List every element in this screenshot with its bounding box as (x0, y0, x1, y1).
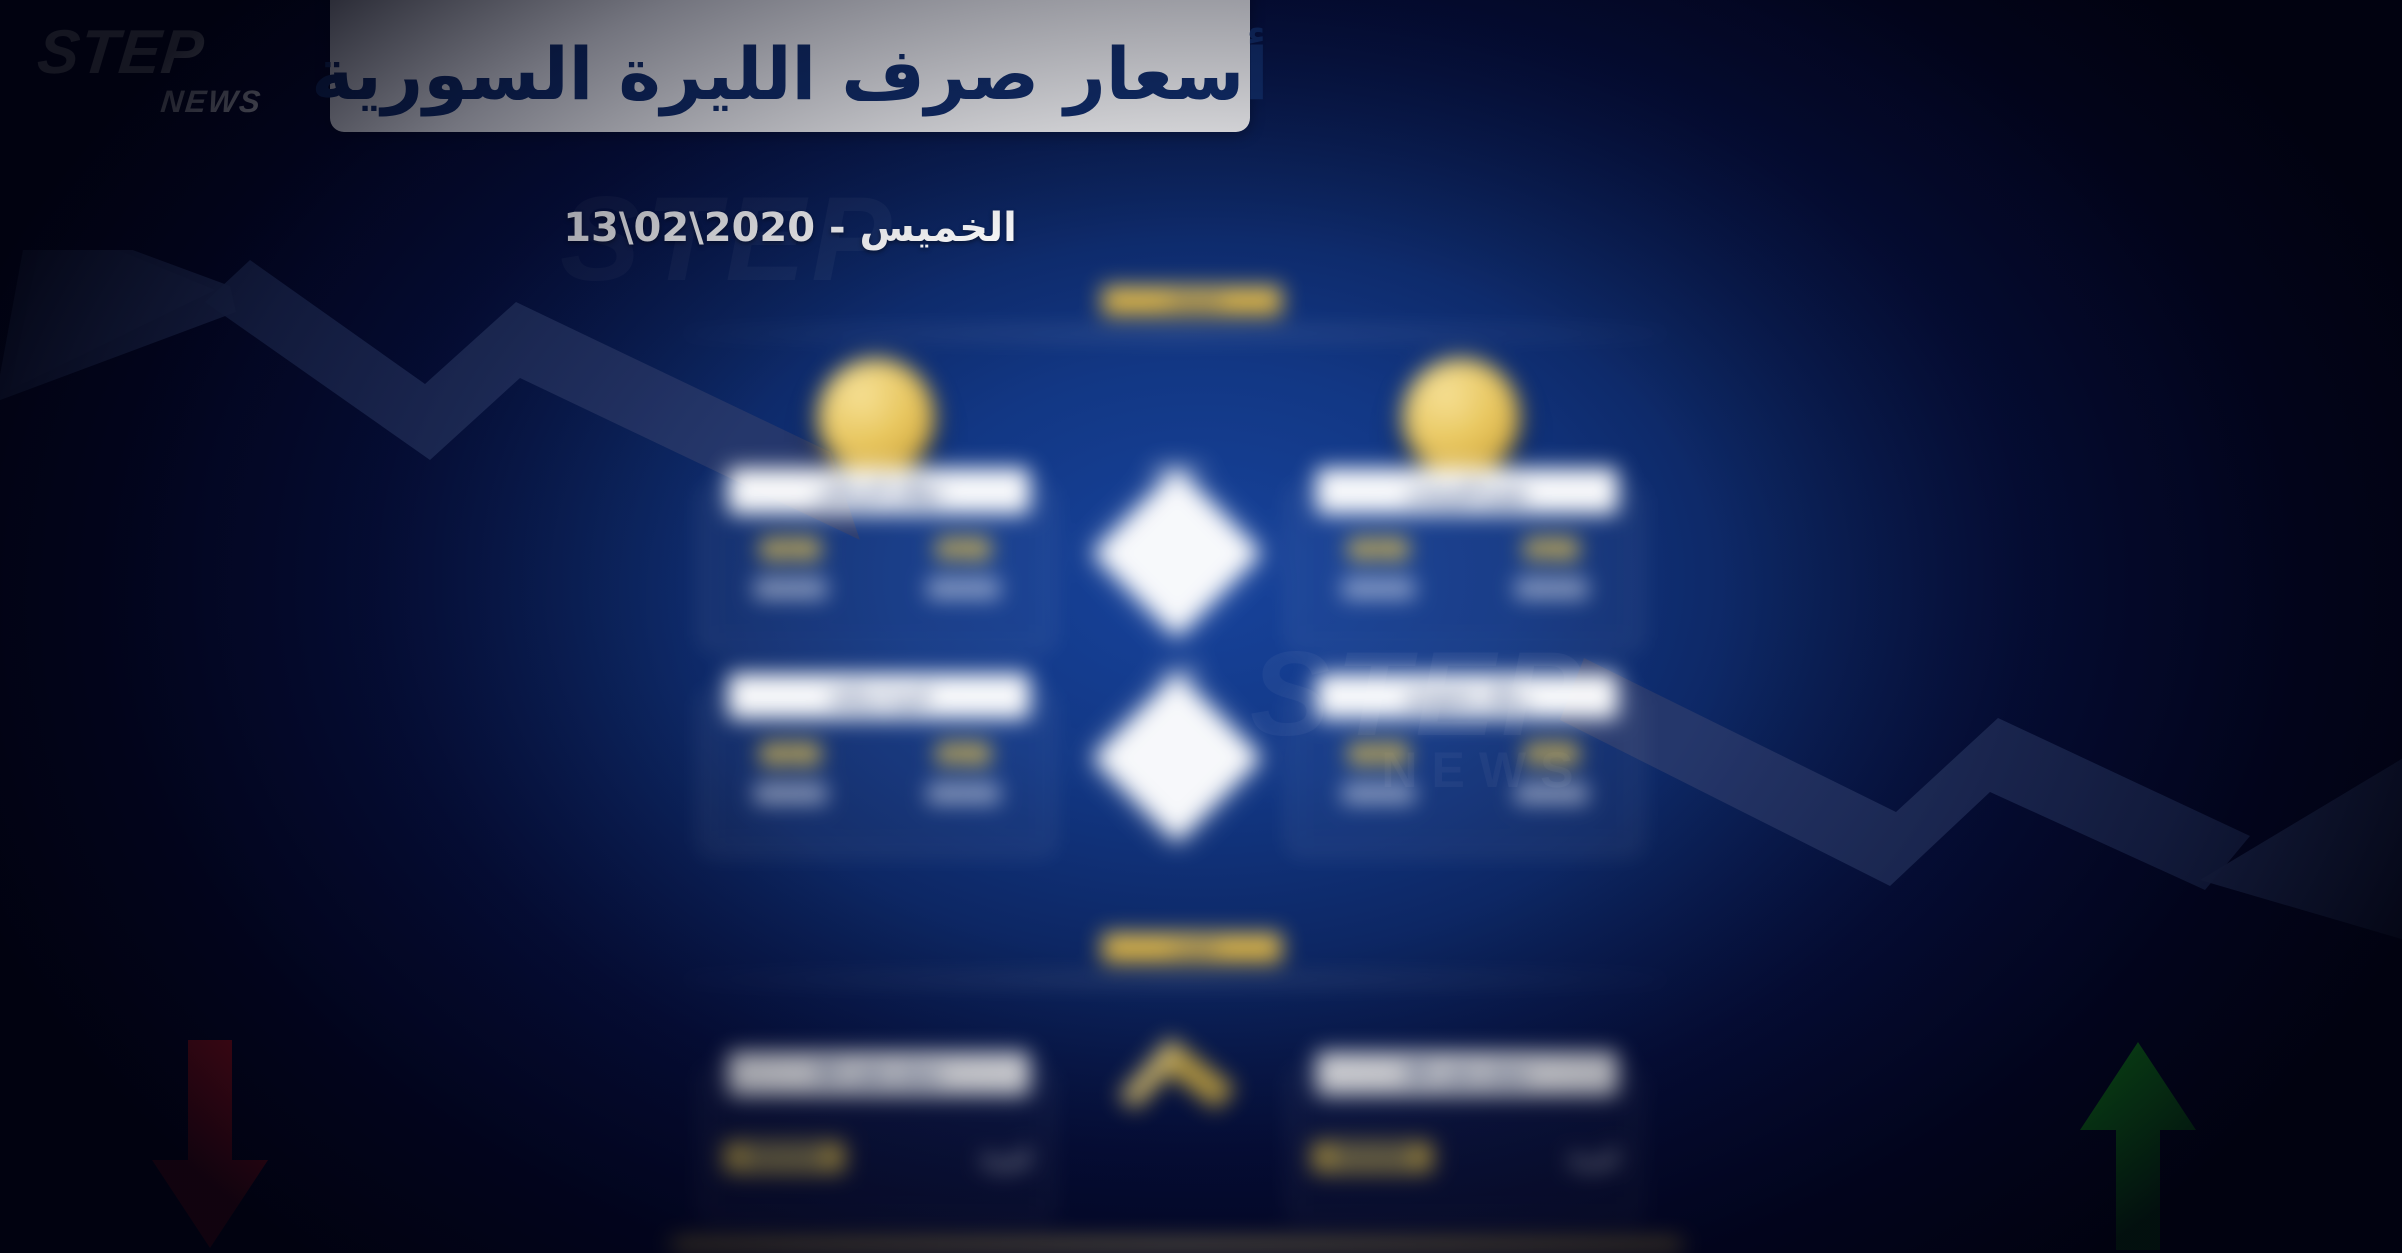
diamond-marker (1092, 468, 1262, 638)
gold-card-title: غرام ذهب 21 (728, 1052, 1030, 1096)
rate-col-label: شراء (761, 744, 819, 764)
rate-card-title: يورو أوروبي (1316, 468, 1618, 514)
rate-col-value: 0000 (1465, 575, 1638, 605)
coin-icon-left (817, 358, 935, 476)
step-news-logo: STEP NEWS (38, 22, 268, 132)
rate-col-value: 0000 (704, 780, 877, 810)
gold-card-value: 00000 (724, 1142, 845, 1173)
rate-col-value: 0000 (1465, 780, 1638, 810)
rate-col: مبيع 0000 (877, 538, 1050, 605)
rate-col: مبيع 0000 (1465, 743, 1638, 810)
gold-card-unit-label: ليرة (1570, 1144, 1618, 1172)
section-tab-currency-label: العملات (1164, 292, 1220, 310)
rate-col-label: مبيع (937, 744, 991, 764)
section-tab-currency: العملات (1102, 286, 1282, 316)
rate-col-label: مبيع (1525, 539, 1579, 559)
rate-col: مبيع 0000 (877, 743, 1050, 810)
rate-card: ريال سعودي شراء 0000 مبيع 0000 (1290, 693, 1640, 853)
gold-card-title-label: غرام ذهب 21 (815, 1063, 943, 1085)
rate-card-title-label: يورو أوروبي (1406, 479, 1528, 503)
rate-col-label: شراء (1349, 539, 1407, 559)
rate-col-value: 0000 (704, 575, 877, 605)
gold-card-value: 00000 (1312, 1142, 1433, 1173)
rate-col-value: 0000 (877, 575, 1050, 605)
rate-col-label: شراء (761, 539, 819, 559)
rate-col-label: مبيع (1525, 744, 1579, 764)
rate-card-title: دولار أمريكي (728, 468, 1030, 514)
logo-primary-text: STEP (35, 22, 272, 84)
rate-col: شراء 0000 (1292, 538, 1465, 605)
gold-card-title-label: غرام ذهب 18 (1403, 1063, 1531, 1085)
rate-col: مبيع 0000 (1465, 538, 1638, 605)
rates-panel-blurred: العملات دولار أمريكي شراء 0000 مبيع (672, 288, 1682, 1253)
rate-card: ليرة تركية شراء 0000 مبيع 0000 (702, 693, 1052, 853)
rate-col: شراء 0000 (1292, 743, 1465, 810)
date-line: الخميس - 2020\02\13 (330, 205, 1250, 251)
bottom-gold-strip (672, 1240, 1682, 1250)
page-title: أسعار صرف الليرة السورية (311, 32, 1269, 132)
rate-col-value: 0000 (877, 780, 1050, 810)
rate-card: يورو أوروبي شراء 0000 مبيع 0000 (1290, 488, 1640, 648)
rate-card-title-label: ريال سعودي (1406, 684, 1529, 708)
rate-col-value: 0000 (1292, 780, 1465, 810)
zigzag-arrow-up-right-icon (1560, 640, 2402, 970)
rate-col-label: مبيع (937, 539, 991, 559)
rate-card: دولار أمريكي شراء 0000 مبيع 0000 (702, 488, 1052, 648)
arrow-up-icon (2078, 1040, 2198, 1250)
rate-card-title: ليرة تركية (728, 673, 1030, 719)
divider-gold (680, 978, 1670, 981)
gold-card-unit-label: ليرة (982, 1144, 1030, 1172)
divider-currency (680, 332, 1670, 335)
rate-col: شراء 0000 (704, 538, 877, 605)
title-banner: أسعار صرف الليرة السورية (330, 0, 1250, 132)
logo-secondary-text: NEWS (36, 86, 263, 117)
rate-col-label: شراء (1349, 744, 1407, 764)
gold-card: غرام ذهب 21 ليرة 00000 (702, 1070, 1052, 1220)
rate-col: شراء 0000 (704, 743, 877, 810)
arrow-down-icon (150, 1040, 270, 1250)
section-tab-gold-label: الذهب (1169, 939, 1215, 957)
poster-stage: STEP STEP NEWS STEP NEWS أسعار صرف اللير… (0, 0, 2402, 1253)
coin-icon-right (1402, 358, 1520, 476)
rate-card-title-label: ليرة تركية (830, 684, 929, 708)
rate-card-title-label: دولار أمريكي (815, 479, 942, 503)
gold-card-title: غرام ذهب 18 (1316, 1052, 1618, 1096)
diamond-marker (1092, 673, 1262, 843)
section-tab-gold: الذهب (1102, 933, 1282, 963)
gold-chevron-icon (1112, 1030, 1242, 1110)
rate-col-value: 0000 (1292, 575, 1465, 605)
rate-card-title: ريال سعودي (1316, 673, 1618, 719)
gold-card: غرام ذهب 18 ليرة 00000 (1290, 1070, 1640, 1220)
